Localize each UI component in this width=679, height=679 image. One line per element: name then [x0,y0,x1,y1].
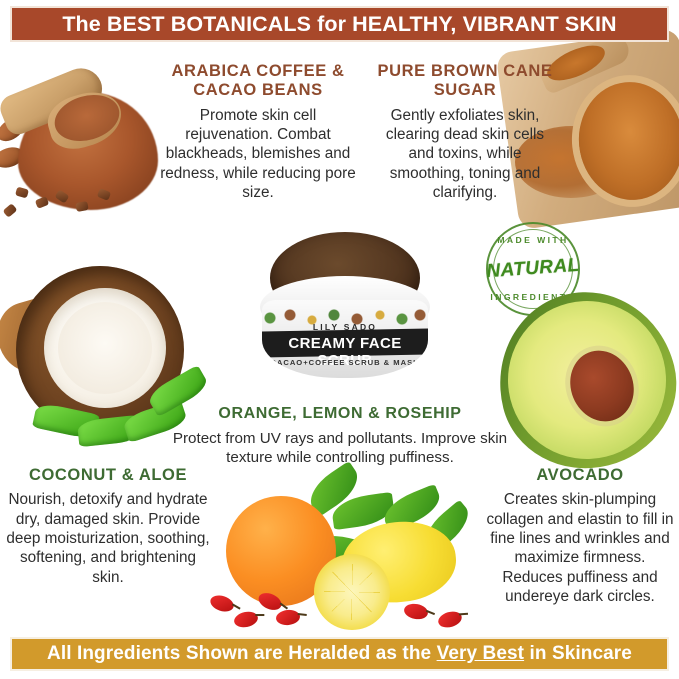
orange-lemon-rosehip-image [214,470,466,630]
jar-body: LILY SADO CREAMY FACE SCRUB CACAO+COFFEE… [262,300,428,378]
ingredient-body-avocado: Creates skin-plumping collagen and elast… [484,490,676,606]
bottom-banner: All Ingredients Shown are Heralded as th… [10,637,669,671]
cacao-bean [0,113,29,146]
citrus-leaf [330,492,396,530]
rosehip-berry [436,609,463,630]
infographic-page: LILY SADO CREAMY FACE SCRUB CACAO+COFFEE… [0,0,679,679]
citrus-leaf [379,484,445,532]
cacao-nib [75,201,88,212]
ingredient-body-coconut-aloe: Nourish, detoxify and hydrate dry, damag… [4,490,212,586]
bottom-banner-text: All Ingredients Shown are Heralded as th… [47,643,632,665]
scoop-bowl [42,85,127,155]
coconut-shell [16,266,184,434]
ingredient-heading-coconut-aloe: COCONUT & ALOE [4,466,212,485]
label-band [262,329,428,358]
cacao-nib [15,187,29,199]
aloe-slice [77,415,141,447]
orange-fruit [226,496,336,606]
cacao-powder-and-beans-image [0,36,162,236]
jar-product-name: CREAMY FACE SCRUB [262,335,428,369]
label-confetti-pattern [262,306,428,330]
stamp-outer-ring [486,222,580,316]
lemon-half [314,554,390,630]
stamp-word: NATURAL [481,254,584,283]
bottom-banner-text-underlined: Very Best [437,643,525,664]
ingredient-block-avocado: AVOCADO Creates skin-plumping collagen a… [484,466,676,606]
jar-subtitle: CACAO+COFFEE SCRUB & MASK [262,358,428,367]
top-banner: The BEST BOTANICALS for HEALTHY, VIBRANT… [10,6,669,42]
bottom-banner-text-after: in Skincare [524,643,632,664]
rosehip-berry [275,609,300,626]
jar-rim [260,276,430,338]
ingredient-block-coffee-cacao: ARABICA COFFEE & CACAO BEANS Promote ski… [160,62,356,202]
citrus-leaf [418,500,476,555]
cacao-bean [21,157,56,187]
coconut-cavity [58,302,152,394]
ingredient-block-cane-sugar: PURE BROWN CANE SUGAR Gently exfoliates … [372,62,558,202]
rosehip-berry [403,602,429,621]
coconut-meat [44,288,166,408]
ingredient-body-coffee-cacao: Promote skin cell rejuvenation. Combat b… [160,106,356,202]
citrus-leaf [302,461,365,517]
cacao-nib [35,196,49,209]
product-jar-image: LILY SADO CREAMY FACE SCRUB CACAO+COFFEE… [256,232,434,388]
ingredient-body-citrus-rosehip: Protect from UV rays and pollutants. Imp… [168,429,512,467]
coconut-husk [0,295,66,379]
cacao-bean [0,144,26,171]
ingredient-heading-cane-sugar: PURE BROWN CANE SUGAR [372,62,558,101]
cacao-bean [6,86,39,121]
ingredient-block-citrus-rosehip: ORANGE, LEMON & ROSEHIP Protect from UV … [168,405,512,467]
wooden-scoop [0,62,108,138]
scrub-product [270,232,420,324]
ingredient-body-cane-sugar: Gently exfoliates skin, clearing dead sk… [372,106,558,202]
sugar-bowl [573,77,679,205]
lemon-fruit [338,516,460,607]
avocado-pit [560,341,644,431]
top-banner-text: The BEST BOTANICALS for HEALTHY, VIBRANT… [62,12,616,37]
cacao-nib [3,203,18,218]
stamp-inner-ring [493,229,573,309]
rosehip-berry [256,590,284,613]
citrus-leaf [307,529,371,572]
bottom-banner-text-before: All Ingredients Shown are Heralded as th… [47,643,437,664]
scoop-powder [49,88,125,148]
ingredient-heading-coffee-cacao: ARABICA COFFEE & CACAO BEANS [160,62,356,101]
avocado-half-image [499,292,675,468]
avocado-flesh [491,284,679,476]
ingredient-heading-citrus-rosehip: ORANGE, LEMON & ROSEHIP [168,405,512,424]
ingredient-block-coconut-aloe: COCONUT & ALOE Nourish, detoxify and hyd… [4,466,212,587]
cacao-nib [97,188,111,201]
stamp-arc-top: MADE WITH [486,235,580,245]
jar-brand-name: LILY SADO [262,322,428,332]
lemon-segments [324,564,380,620]
ingredient-heading-avocado: AVOCADO [484,466,676,485]
aloe-slice [32,402,100,441]
cacao-powder-pile [18,92,158,210]
stamp-arc-bottom: INGREDIENTS [486,292,580,302]
rosehip-berry [233,610,260,630]
rosehip-berry [208,593,235,615]
cacao-nib [55,189,70,203]
natural-ingredients-stamp: MADE WITH NATURAL INGREDIENTS [486,222,580,316]
